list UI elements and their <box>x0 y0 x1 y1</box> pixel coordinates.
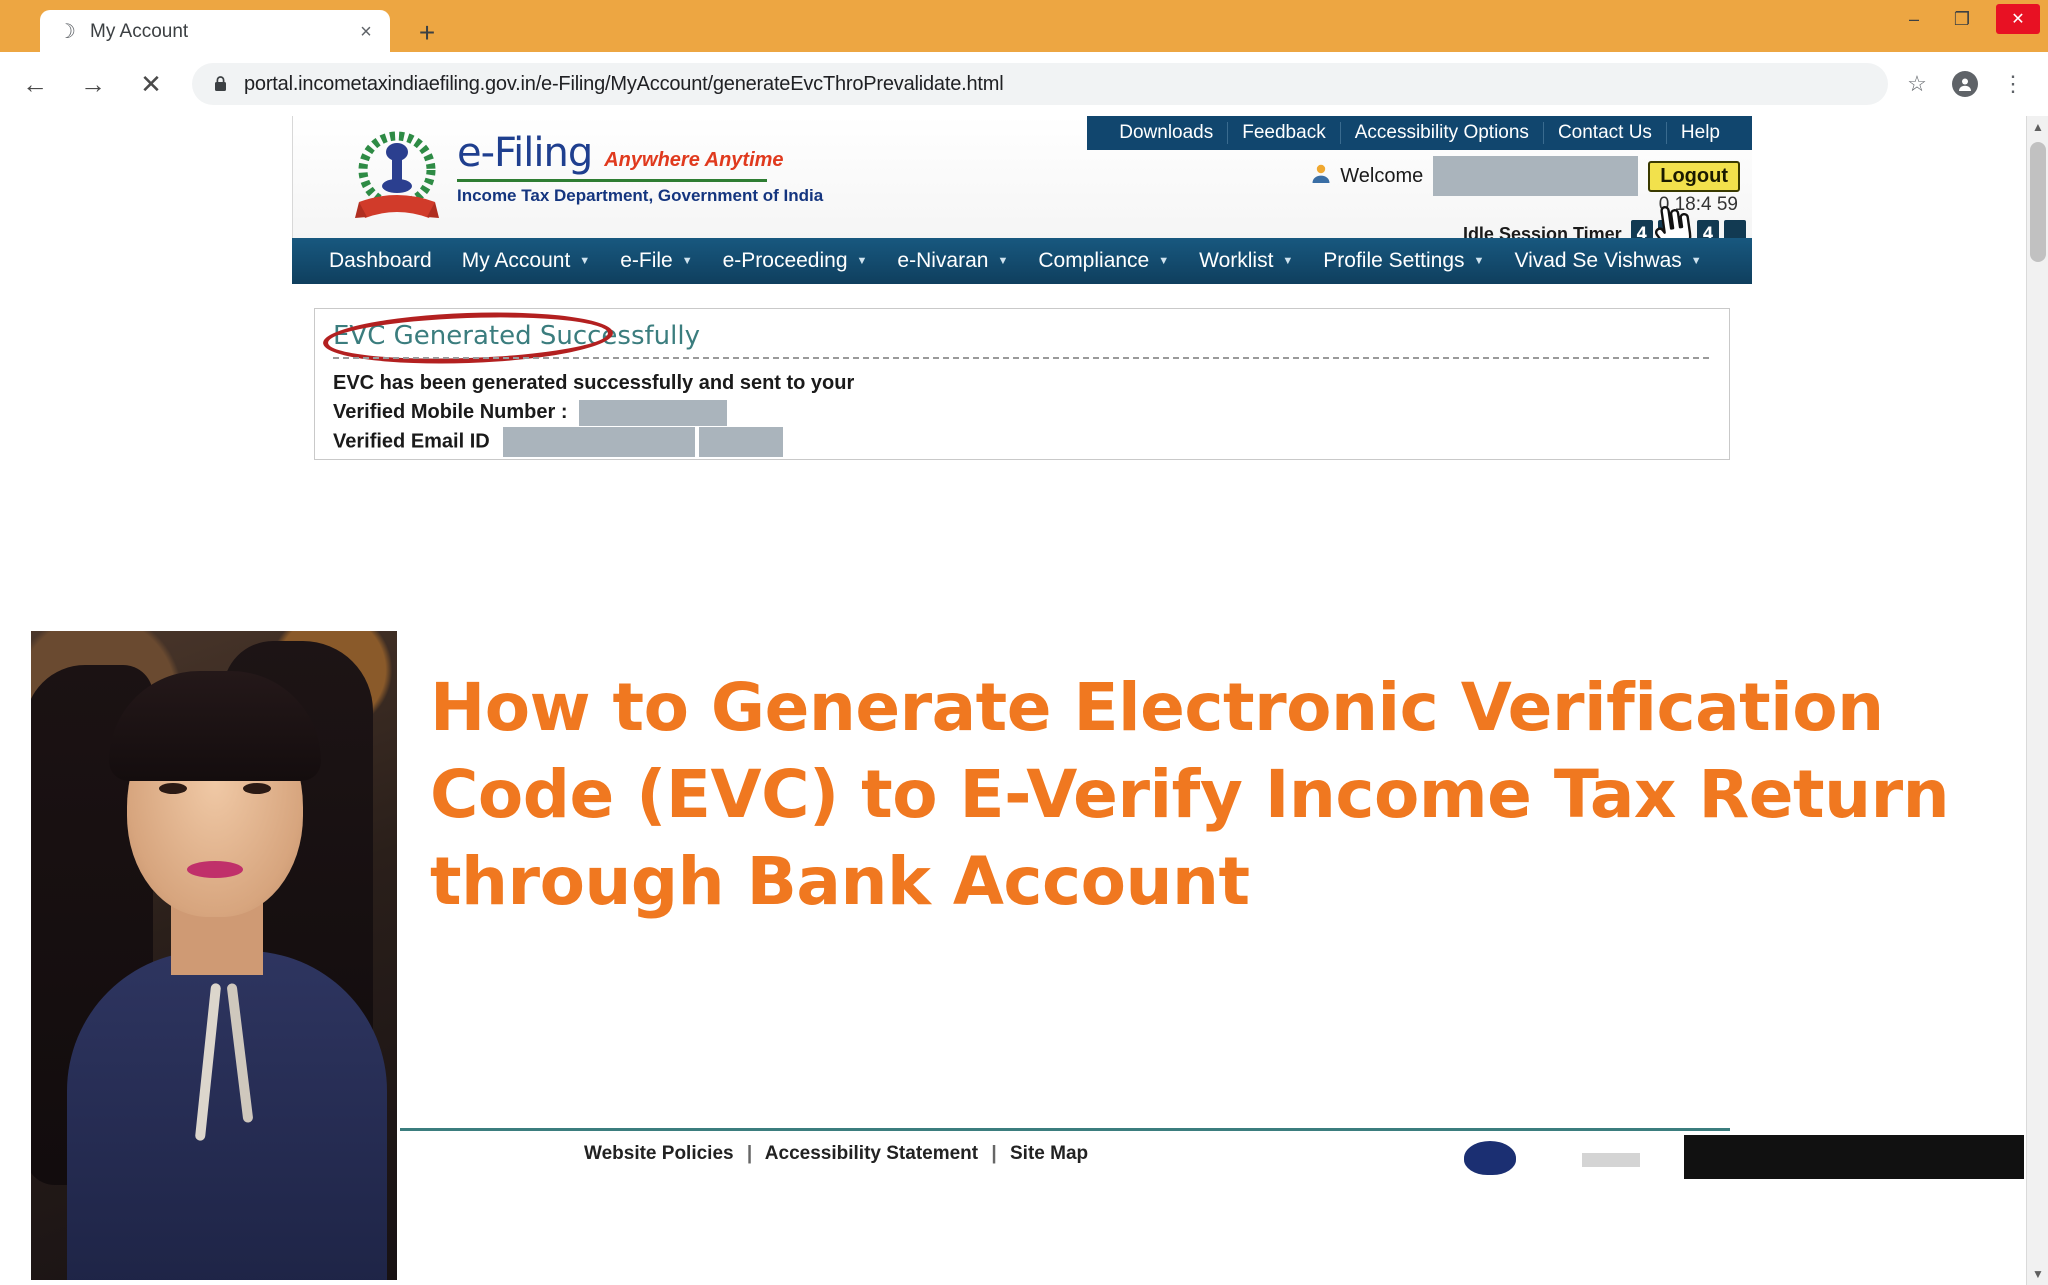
redacted-email-id <box>503 427 695 457</box>
window-controls: – ❐ ✕ <box>1900 4 2040 34</box>
headline-text: How to Generate Electronic Verification … <box>430 664 1950 925</box>
top-link-contact-us[interactable]: Contact Us <box>1544 122 1667 144</box>
portal-footer: Website Policies | Accessibility Stateme… <box>314 1128 1730 1176</box>
menu-item-compliance[interactable]: Compliance ▼ <box>1023 249 1184 273</box>
address-bar[interactable]: portal.incometaxindiaefiling.gov.in/e-Fi… <box>192 63 1888 105</box>
thumbnail-headline: How to Generate Electronic Verification … <box>430 664 1950 925</box>
new-tab-button[interactable]: + <box>410 16 444 50</box>
footer-links: Website Policies | Accessibility Stateme… <box>584 1143 1088 1165</box>
portal-brand: e-Filing Anywhere Anytime Income Tax Dep… <box>457 130 823 206</box>
menu-item-label: e-Proceeding <box>723 249 848 273</box>
menu-item-worklist[interactable]: Worklist ▼ <box>1184 249 1308 273</box>
top-link-help[interactable]: Help <box>1667 122 1734 144</box>
footer-black-bar <box>1684 1135 2024 1179</box>
chevron-down-icon: ▼ <box>579 255 590 267</box>
footer-separator: | <box>747 1143 752 1164</box>
footer-link-website-policies[interactable]: Website Policies <box>584 1143 734 1164</box>
footer-logo-icon <box>1464 1141 1516 1175</box>
logout-button[interactable]: Logout <box>1648 161 1740 192</box>
top-link-downloads[interactable]: Downloads <box>1105 122 1228 144</box>
welcome-row: Welcome Logout <box>1310 156 1740 196</box>
evc-success-body: EVC has been generated successfully and … <box>333 369 854 457</box>
menu-item-label: Compliance <box>1038 249 1149 273</box>
bookmark-star-icon[interactable]: ☆ <box>1904 71 1930 97</box>
redacted-mobile-number <box>579 400 727 426</box>
menu-item-my-account[interactable]: My Account ▼ <box>447 249 605 273</box>
menu-item-vivad-se-vishwas[interactable]: Vivad Se Vishwas ▼ <box>1499 249 1716 273</box>
evc-message-line-3: Verified Email ID <box>333 427 854 457</box>
footer-separator: | <box>991 1143 996 1164</box>
evc-success-card: EVC Generated Successfully EVC has been … <box>314 308 1730 460</box>
chevron-down-icon: ▼ <box>1691 255 1702 267</box>
portal-top-links: Downloads Feedback Accessibility Options… <box>1087 116 1752 150</box>
red-ellipse-annotation <box>322 308 614 368</box>
menu-item-label: Profile Settings <box>1323 249 1464 273</box>
brand-department: Income Tax Department, Government of Ind… <box>457 186 823 206</box>
browser-tab[interactable]: ☽ My Account × <box>40 10 390 54</box>
menu-item-profile-settings[interactable]: Profile Settings ▼ <box>1308 249 1499 273</box>
brand-tagline: Anywhere Anytime <box>604 149 783 172</box>
verified-email-label: Verified Email ID <box>333 430 490 452</box>
browser-chrome: ☽ My Account × + – ❐ ✕ ← → ✕ <box>0 0 2048 116</box>
footer-logo-secondary-icon <box>1582 1153 1640 1167</box>
chevron-down-icon: ▼ <box>1158 255 1169 267</box>
india-emblem-icon <box>349 122 445 230</box>
close-icon[interactable]: × <box>354 20 378 44</box>
footer-link-site-map[interactable]: Site Map <box>1010 1143 1088 1164</box>
evc-message-line-2: Verified Mobile Number : <box>333 398 854 427</box>
omnibox-actions: ☆ ⋮ <box>1904 71 2026 97</box>
vertical-scrollbar[interactable]: ▲ ▼ <box>2026 116 2048 1285</box>
verified-mobile-label: Verified Mobile Number : <box>333 401 567 423</box>
scrollbar-thumb[interactable] <box>2030 142 2046 262</box>
footer-link-accessibility-statement[interactable]: Accessibility Statement <box>765 1143 978 1164</box>
browser-menu-icon[interactable]: ⋮ <box>2000 71 2026 97</box>
lock-icon <box>210 73 230 95</box>
minimize-icon[interactable]: – <box>1900 9 1928 30</box>
portal-header: e-Filing Anywhere Anytime Income Tax Dep… <box>292 116 1752 238</box>
top-link-feedback[interactable]: Feedback <box>1228 122 1340 144</box>
tab-title: My Account <box>90 21 354 43</box>
photo-lips <box>187 861 243 878</box>
chevron-down-icon: ▼ <box>857 255 868 267</box>
omnibox-bar: ← → ✕ portal.incometaxindiaefiling.gov.i… <box>0 52 2048 116</box>
chevron-down-icon: ▼ <box>1282 255 1293 267</box>
url-text: portal.incometaxindiaefiling.gov.in/e-Fi… <box>244 73 1003 96</box>
chevron-down-icon: ▼ <box>682 255 693 267</box>
evc-message-line-1: EVC has been generated successfully and … <box>333 369 854 398</box>
card-divider <box>333 357 1709 359</box>
menu-item-label: Vivad Se Vishwas <box>1514 249 1681 273</box>
window-close-icon[interactable]: ✕ <box>1996 4 2040 34</box>
brand-divider <box>457 179 767 182</box>
chevron-down-icon: ▼ <box>1474 255 1485 267</box>
presenter-photo <box>28 628 400 1283</box>
menu-item-label: e-File <box>620 249 673 273</box>
redacted-user-name <box>1433 156 1638 196</box>
page-viewport: e-Filing Anywhere Anytime Income Tax Dep… <box>0 116 2048 1285</box>
redacted-email-id-2 <box>699 427 783 457</box>
back-icon[interactable]: ← <box>12 61 58 107</box>
menu-item-e-file[interactable]: e-File ▼ <box>605 249 707 273</box>
menu-item-e-nivaran[interactable]: e-Nivaran ▼ <box>882 249 1023 273</box>
scroll-down-arrow-icon[interactable]: ▼ <box>2027 1263 2048 1285</box>
scroll-up-arrow-icon[interactable]: ▲ <box>2027 116 2048 138</box>
forward-icon[interactable]: → <box>70 61 116 107</box>
loading-spinner-icon: ☽ <box>56 21 78 43</box>
tab-strip: ☽ My Account × + – ❐ ✕ <box>0 0 2048 52</box>
portal-main-menu: Dashboard My Account ▼ e-File ▼ e-Procee… <box>292 238 1752 284</box>
photo-eye-left <box>159 783 187 794</box>
maximize-icon[interactable]: ❐ <box>1948 9 1976 30</box>
chevron-down-icon: ▼ <box>997 255 1008 267</box>
menu-item-label: My Account <box>462 249 571 273</box>
screenshot-root: ☽ My Account × + – ❐ ✕ ← → ✕ <box>0 0 2048 1285</box>
top-link-accessibility-options[interactable]: Accessibility Options <box>1341 122 1544 144</box>
stop-icon[interactable]: ✕ <box>128 61 174 107</box>
menu-item-e-proceeding[interactable]: e-Proceeding ▼ <box>708 249 883 273</box>
photo-torso <box>67 951 387 1283</box>
welcome-label: Welcome <box>1340 165 1423 188</box>
menu-item-dashboard[interactable]: Dashboard <box>314 249 447 273</box>
menu-item-label: Dashboard <box>329 249 432 273</box>
brand-name: e-Filing <box>457 130 592 176</box>
user-avatar-icon <box>1310 162 1332 190</box>
menu-item-label: e-Nivaran <box>897 249 988 273</box>
menu-item-label: Worklist <box>1199 249 1273 273</box>
profile-avatar-icon[interactable] <box>1952 71 1978 97</box>
photo-eye-right <box>243 783 271 794</box>
